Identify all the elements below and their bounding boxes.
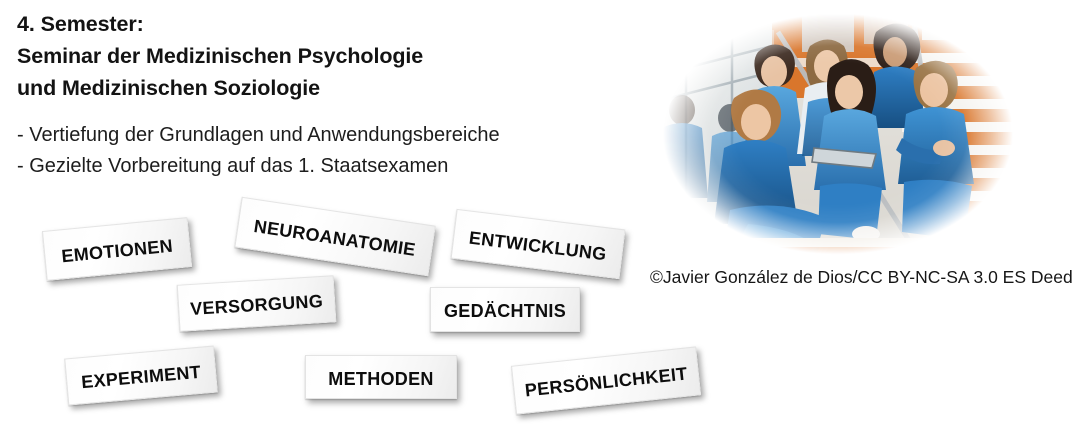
bullet-item-1: - Vertiefung der Grundlagen und Anwendun…	[17, 120, 637, 151]
topic-tag-label: EXPERIMENT	[80, 358, 202, 393]
tag-methoden[interactable]: METHODEN	[305, 355, 457, 399]
slide-canvas: 4. Semester: Seminar der Medizinischen P…	[0, 0, 1078, 427]
tag-entwicklung[interactable]: ENTWICKLUNG	[451, 209, 626, 279]
tag-persoenlichkeit[interactable]: PERSÖNLICHKEIT	[511, 346, 701, 414]
topic-tag-label: METHODEN	[328, 365, 433, 390]
tag-neuroanatomie[interactable]: NEUROANATOMIE	[234, 197, 435, 276]
page-title-line-2: Seminar der Medizinischen Psychologie	[17, 40, 637, 72]
topic-tag-label: EMOTIONEN	[60, 231, 174, 267]
page-title-line-3: und Medizinischen Soziologie	[17, 72, 637, 104]
photo-container	[652, 6, 1024, 262]
topic-tag-label: ENTWICKLUNG	[468, 223, 608, 265]
topic-tag-label: PERSÖNLICHKEIT	[524, 360, 689, 402]
topic-tag-label: NEUROANATOMIE	[252, 212, 417, 261]
page-title-line-1: 4. Semester:	[17, 8, 637, 40]
topic-tag-label: VERSORGUNG	[189, 287, 323, 320]
topic-tag-label: GEDÄCHTNIS	[444, 297, 566, 322]
tag-versorgung[interactable]: VERSORGUNG	[177, 275, 337, 331]
students-photo	[652, 6, 1024, 262]
text-block: 4. Semester: Seminar der Medizinischen P…	[17, 8, 637, 182]
bullet-list: - Vertiefung der Grundlagen und Anwendun…	[17, 120, 637, 182]
tag-experiment[interactable]: EXPERIMENT	[64, 346, 218, 406]
bullet-item-2: - Gezielte Vorbereitung auf das 1. Staat…	[17, 151, 637, 182]
tag-gedaechtnis[interactable]: GEDÄCHTNIS	[430, 287, 580, 332]
photo-caption: ©Javier González de Dios/CC BY-NC-SA 3.0…	[650, 266, 1074, 288]
tag-emotionen[interactable]: EMOTIONEN	[42, 217, 192, 281]
